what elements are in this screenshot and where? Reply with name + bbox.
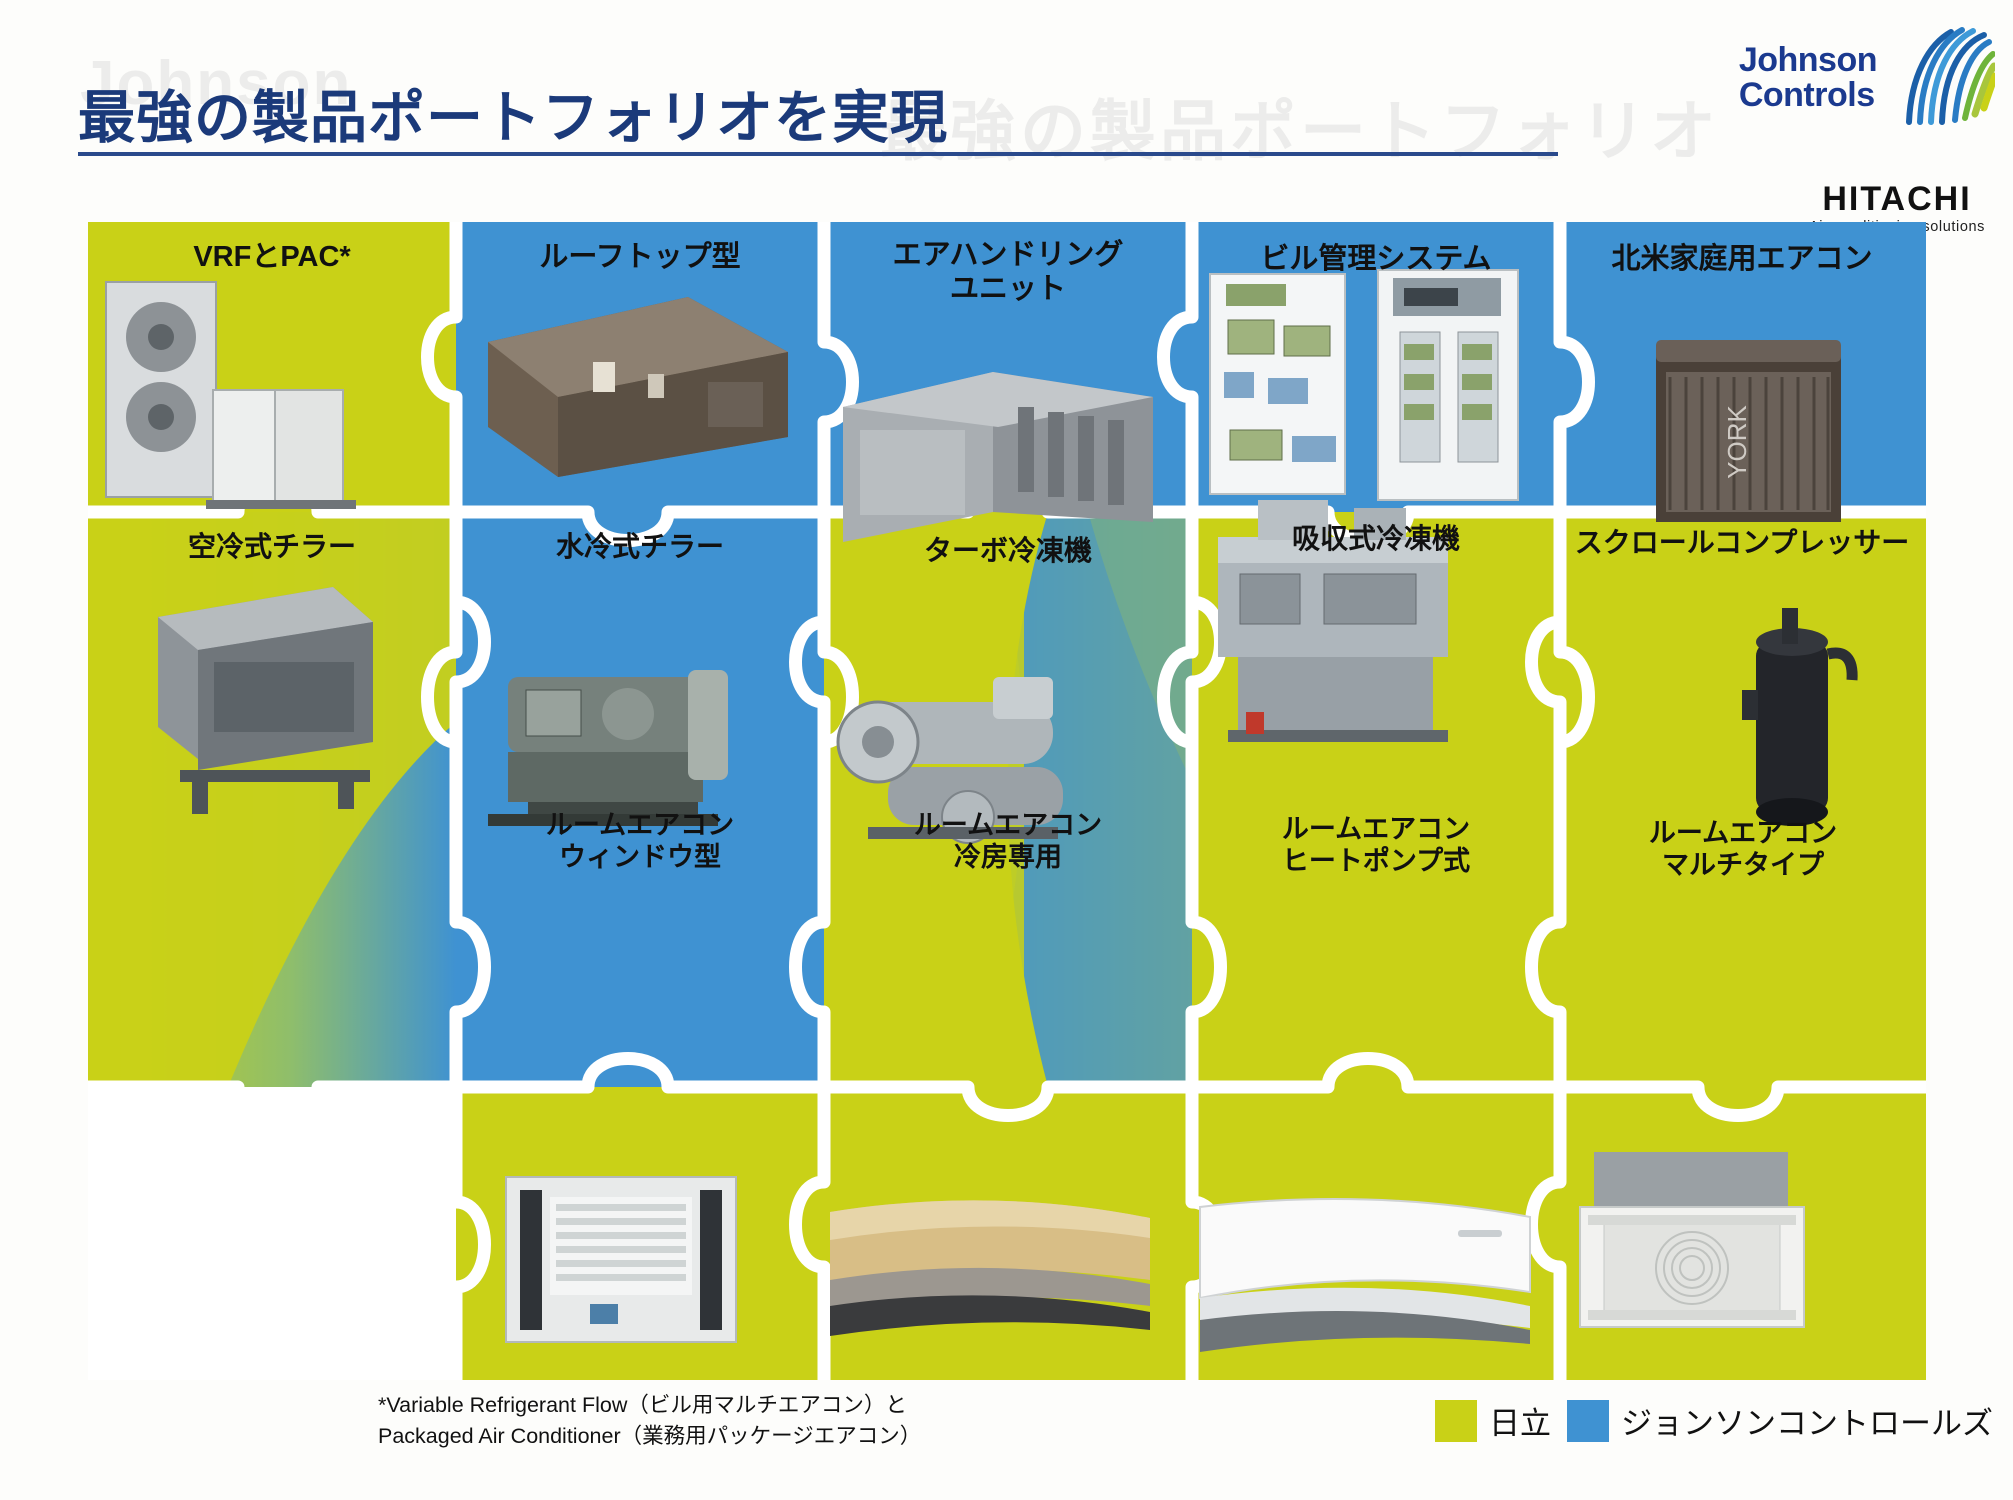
johnson-controls-logo: Johnson Controls [1739, 26, 1995, 130]
product-image-cooling-only-room-ac [830, 1200, 1150, 1336]
product-image-multi-type-cassette-ac [1580, 1152, 1804, 1327]
product-portfolio-puzzle: YORK [88, 222, 1926, 1380]
slide-canvas: Johnson 最強の製品ポートフォリオ 製品ポートフォリオ 最強の製品ポートフ… [0, 0, 2013, 1500]
jc-logo-line2: Controls [1739, 78, 1877, 113]
jc-logo-line1: Johnson [1739, 43, 1877, 78]
legend-item-jci: ジョンソンコントロールズ [1567, 1398, 1993, 1443]
product-image-heat-pump-room-ac [1200, 1199, 1530, 1352]
footnote-text: *Variable Refrigerant Flow（ビル用マルチエアコン）と … [378, 1390, 921, 1451]
puzzle-svg: YORK [88, 222, 1926, 1380]
cell-bg-r2c5 [1560, 512, 1926, 1087]
legend-swatch-jci [1567, 1400, 1609, 1442]
cell-bg-r3c1-empty [88, 1087, 456, 1380]
hitachi-wordmark: HITACHI [1809, 182, 1985, 216]
legend-item-hitachi: 日立 [1435, 1398, 1551, 1443]
legend-label-jci: ジョンソンコントロールズ [1621, 1398, 1993, 1443]
brand-legend: 日立 ジョンソンコントロールズ [1435, 1398, 1993, 1443]
product-image-york-residential-ac: YORK [1656, 340, 1841, 522]
product-image-window-room-ac [506, 1177, 736, 1342]
legend-swatch-hitachi [1435, 1400, 1477, 1442]
johnson-controls-wordmark: Johnson Controls [1739, 43, 1877, 112]
johnson-controls-mark-icon [1889, 26, 1995, 130]
title-underline-rule [78, 152, 1558, 156]
product-image-air-cooled-chiller [158, 587, 373, 814]
page-title: 最強の製品ポートフォリオを実現 [78, 72, 948, 154]
svg-text:YORK: YORK [1722, 405, 1752, 479]
scan-ghost-text-2: 最強の製品ポートフォリオ [880, 78, 1720, 174]
legend-label-hitachi: 日立 [1489, 1398, 1551, 1443]
